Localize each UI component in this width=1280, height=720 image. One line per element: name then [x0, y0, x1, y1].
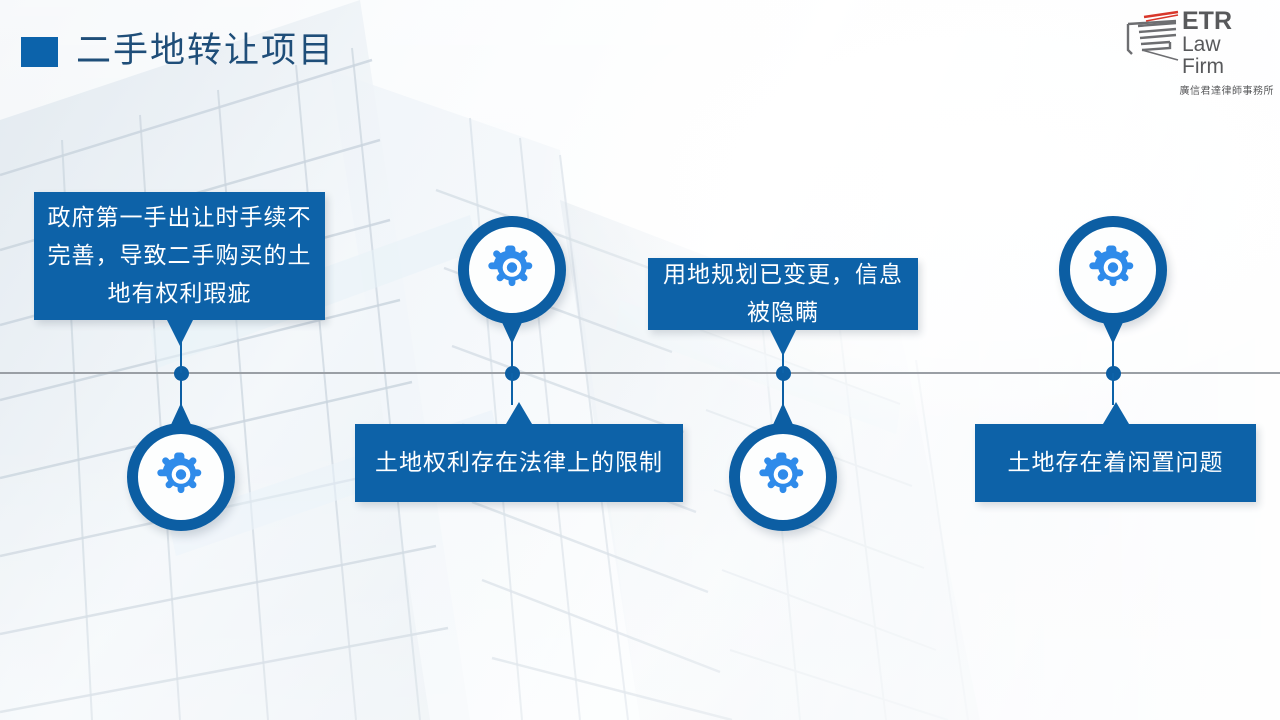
- callout-stem-4: [1112, 373, 1114, 405]
- callout-tail-2: [506, 402, 532, 424]
- gear-icon: [1086, 243, 1140, 297]
- gear-marker-4[interactable]: [1059, 216, 1167, 324]
- callout-text-1: 政府第一手出让时手续不完善，导致二手购买的土地有权利瑕疵: [34, 199, 325, 313]
- timeline-axis: [0, 372, 1280, 374]
- logo-line-etr: ETR: [1182, 8, 1276, 34]
- gear-marker-pin-3: [771, 403, 795, 429]
- slide-canvas: 二手地转让项目 ETR Law Firm: [0, 0, 1280, 720]
- gear-marker-stem-2: [511, 342, 513, 373]
- gear-marker-stem-3: [782, 373, 784, 405]
- callout-tail-4: [1103, 402, 1129, 424]
- callout-stem-2: [511, 373, 513, 405]
- gear-marker-3[interactable]: [729, 423, 837, 531]
- callout-stem-3: [782, 350, 784, 373]
- callout-box-4[interactable]: 土地存在着闲置问题: [975, 424, 1256, 502]
- gear-marker-2[interactable]: [458, 216, 566, 324]
- callout-text-3: 用地规划已变更，信息被隐瞒: [648, 256, 918, 332]
- logo-book-icon: [1124, 10, 1182, 62]
- logo-line-firm: Firm: [1182, 56, 1276, 78]
- title-square-marker: [21, 37, 58, 67]
- gear-icon: [756, 450, 810, 504]
- gear-marker-pin-1: [169, 403, 193, 429]
- etr-law-firm-logo: ETR Law Firm 廣信君達律師事務所: [1124, 8, 1274, 100]
- logo-wordmark: ETR Law Firm: [1182, 8, 1276, 78]
- logo-line-law: Law: [1182, 34, 1276, 56]
- callout-text-4: 土地存在着闲置问题: [996, 444, 1236, 482]
- callout-text-2: 土地权利存在法律上的限制: [363, 444, 675, 482]
- gear-marker-pin-2: [500, 318, 524, 344]
- background-photo: [0, 0, 1280, 720]
- gear-marker-1[interactable]: [127, 423, 235, 531]
- page-title: 二手地转让项目: [76, 26, 335, 76]
- callout-box-2[interactable]: 土地权利存在法律上的限制: [355, 424, 683, 502]
- callout-box-3[interactable]: 用地规划已变更，信息被隐瞒: [648, 258, 918, 330]
- callout-stem-1: [180, 340, 182, 373]
- gear-marker-stem-1: [180, 373, 182, 405]
- gear-icon: [154, 450, 208, 504]
- callout-box-1[interactable]: 政府第一手出让时手续不完善，导致二手购买的土地有权利瑕疵: [34, 192, 325, 320]
- gear-marker-stem-4: [1112, 342, 1114, 373]
- building-facade-graphic: [0, 0, 1280, 720]
- gear-marker-pin-4: [1101, 318, 1125, 344]
- gear-icon: [485, 243, 539, 297]
- logo-chinese-name: 廣信君達律師事務所: [1124, 86, 1274, 98]
